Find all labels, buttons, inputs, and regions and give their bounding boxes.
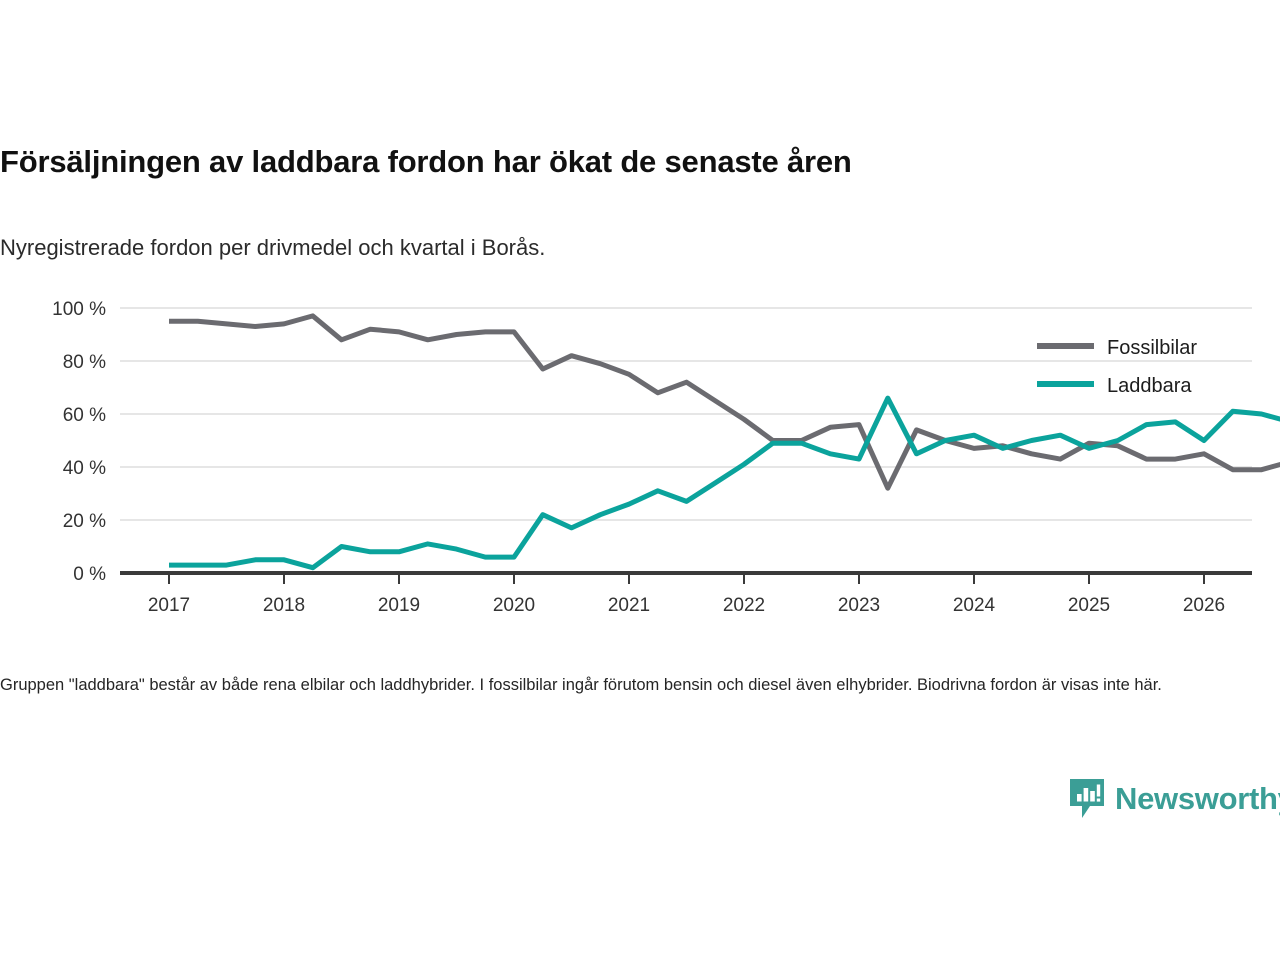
y-axis-tick-label: 60 % <box>63 405 106 426</box>
chart-page: Försäljningen av laddbara fordon har öka… <box>0 0 1280 960</box>
grid-lines <box>120 308 1252 520</box>
y-axis-tick-label: 100 % <box>52 299 106 320</box>
newsworthy-logo: Newsworthy <box>1068 775 1280 821</box>
x-axis-tick-label: 2018 <box>263 595 305 616</box>
x-axis-tick-label: 2026 <box>1183 595 1225 616</box>
logo-wordmark: Newsworthy <box>1115 783 1280 814</box>
x-axis-tick-label: 2024 <box>953 595 996 616</box>
legend-label-laddbara: Laddbara <box>1107 375 1192 397</box>
x-axis-tick-label: 2022 <box>723 595 765 616</box>
y-axis-tick-label: 20 % <box>63 511 106 532</box>
y-axis-tick-label: 0 % <box>73 564 106 585</box>
y-axis-tick-label: 80 % <box>63 352 106 373</box>
x-axis-tick-label: 2019 <box>378 595 420 616</box>
x-axis-tick-label: 2021 <box>608 595 650 616</box>
line-chart: 0 %20 %40 %60 %80 %100 % 201720182019202… <box>0 286 1280 626</box>
chart-footnote: Gruppen "laddbara" består av både rena e… <box>0 674 1220 698</box>
series-line-laddbara <box>169 398 1280 568</box>
bar-chart-speech-bubble-icon <box>1068 777 1106 819</box>
x-axis <box>120 573 1252 584</box>
x-axis-tick-label: 2017 <box>148 595 190 616</box>
y-axis-tick-label: 40 % <box>63 458 106 479</box>
x-axis-tick-label: 2025 <box>1068 595 1110 616</box>
x-axis-labels: 2017201820192020202120222023202420252026 <box>148 595 1225 616</box>
page-subtitle: Nyregistrerade fordon per drivmedel och … <box>0 235 1240 261</box>
legend-label-fossilbilar: Fossilbilar <box>1107 337 1197 359</box>
x-axis-tick-label: 2023 <box>838 595 880 616</box>
x-axis-tick-label: 2020 <box>493 595 535 616</box>
chart-legend: FossilbilarLaddbara <box>1037 337 1197 397</box>
chart-canvas: 0 %20 %40 %60 %80 %100 % 201720182019202… <box>0 286 1280 626</box>
page-title: Försäljningen av laddbara fordon har öka… <box>0 144 1240 180</box>
y-axis-labels: 0 %20 %40 %60 %80 %100 % <box>52 299 106 585</box>
